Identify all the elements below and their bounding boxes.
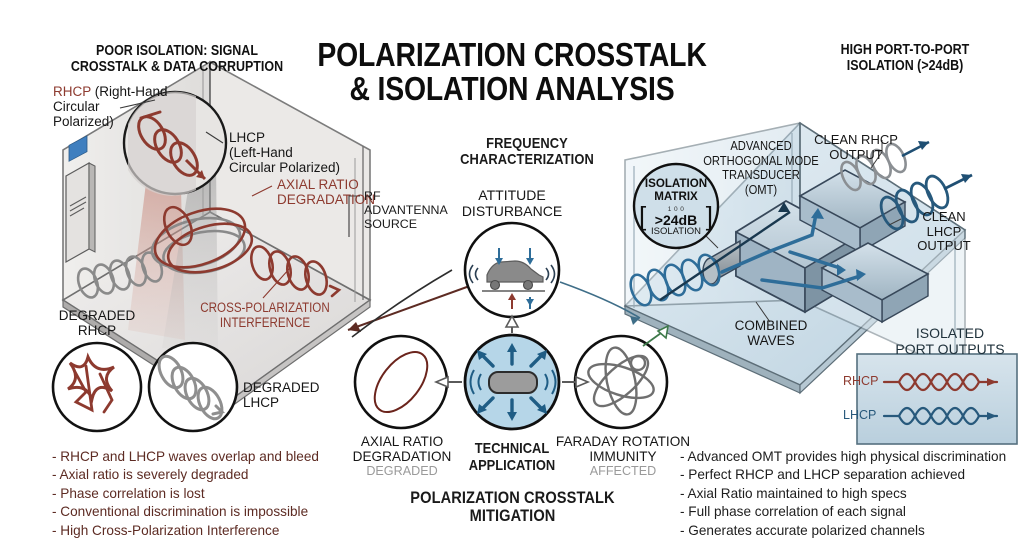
- freq-heading-l2: CHARACTERIZATION: [445, 152, 608, 168]
- right-heading-line1: HIGH PORT-TO-PORT: [815, 42, 996, 58]
- callout-lhcp-l3: Circular Polarized): [229, 160, 369, 175]
- clean-lhcp-l2: LHCP: [906, 225, 982, 240]
- faraday-status: AFFECTED: [549, 464, 697, 478]
- clean-lhcp-l3: OUTPUT: [906, 239, 982, 254]
- left-heading-line1: POOR ISOLATION: SIGNAL: [61, 43, 293, 59]
- degraded-lhcp-l1: DEGRADED: [243, 380, 353, 395]
- matrix-sub-label: ISOLATION: [641, 227, 711, 237]
- callout-rhcp: RHCP (Right-Hand Circular Polarized): [53, 84, 203, 129]
- axial-ratio-icon: [355, 336, 447, 428]
- faraday-l2: IMMUNITY: [549, 449, 697, 464]
- left-heading-line2: CROSSTALK & DATA CORRUPTION: [61, 59, 293, 75]
- callout-rhcp-rest3: Polarized): [53, 114, 203, 129]
- port-label-lhcp: LHCP: [843, 408, 876, 422]
- callout-lhcp-l1: LHCP: [229, 130, 369, 145]
- attitude-l1: ATTITUDE: [437, 188, 587, 204]
- omt-l3: TRANSDUCER: [697, 168, 826, 183]
- port-label-rhcp: RHCP: [843, 374, 878, 388]
- combined-l1: COMBINED: [715, 318, 827, 333]
- callout-degraded-rhcp: DEGRADED RHCP: [35, 308, 159, 338]
- clean-lhcp-l1: CLEAN: [906, 210, 982, 225]
- isolated-ports-l2: PORT OUTPUTS: [880, 342, 1020, 358]
- attitude-l2: DISTURBANCE: [437, 204, 587, 220]
- callout-rf-l3: SOURCE: [364, 217, 454, 231]
- isolation-matrix-content: ISOLATION MATRIX [ ] 1 0 0 >24dB ISOLATI…: [641, 178, 711, 237]
- axial-label-l2: DEGRADATION: [339, 449, 465, 464]
- frequency-characterization-heading: FREQUENCY CHARACTERIZATION: [445, 136, 608, 168]
- isolated-port-outputs-heading: ISOLATED PORT OUTPUTS: [880, 326, 1020, 357]
- degraded-rhcp-l2: RHCP: [35, 323, 159, 338]
- infographic-root: POLARIZATION CROSSTALK & ISOLATION ANALY…: [0, 0, 1024, 556]
- mitigation-l1: POLARIZATION CROSSTALK: [403, 489, 622, 507]
- isolated-port-panel: [857, 354, 1017, 444]
- right-panel-heading: HIGH PORT-TO-PORT ISOLATION (>24dB): [815, 42, 996, 74]
- mitigation-footer: POLARIZATION CROSSTALK MITIGATION: [403, 489, 622, 525]
- isolated-ports-l1: ISOLATED: [880, 326, 1020, 342]
- faraday-l1: FARADAY ROTATION: [549, 434, 697, 449]
- degraded-lhcp-l2: LHCP: [243, 395, 353, 410]
- left-bullet-list: - RHCP and LHCP waves overlap and bleed …: [52, 448, 362, 540]
- matrix-title-l1: ISOLATION: [641, 178, 711, 191]
- callout-cross-polarization: CROSS-POLARIZATION INTERFERENCE: [183, 300, 346, 330]
- callout-lhcp: LHCP (Left-Hand Circular Polarized): [229, 130, 369, 175]
- page-title-line2: & ISOLATION ANALYSIS: [306, 72, 719, 106]
- right-bullet-list: - Advanced OMT provides high physical di…: [680, 448, 1024, 540]
- technical-application-hub: [465, 335, 559, 429]
- omt-l4: (OMT): [697, 183, 826, 198]
- page-title: POLARIZATION CROSSTALK & ISOLATION ANALY…: [306, 38, 719, 105]
- callout-clean-rhcp: CLEAN RHCP OUTPUT: [796, 133, 916, 162]
- callout-rhcp-rest2: Circular: [53, 99, 203, 114]
- right-heading-line2: ISOLATION (>24dB): [815, 58, 996, 74]
- callout-lhcp-l2: (Left-Hand: [229, 145, 369, 160]
- page-title-line1: POLARIZATION CROSSTALK: [306, 38, 719, 72]
- freq-heading-l1: FREQUENCY: [445, 136, 608, 152]
- attitude-disturbance-icon: [465, 223, 559, 317]
- callout-clean-lhcp: CLEAN LHCP OUTPUT: [906, 210, 982, 254]
- callout-crosspol-l1: CROSS-POLARIZATION: [183, 300, 346, 315]
- left-panel-heading: POOR ISOLATION: SIGNAL CROSSTALK & DATA …: [61, 43, 293, 75]
- callout-degraded-lhcp: DEGRADED LHCP: [243, 380, 353, 410]
- axial-label-l1: AXIAL RATIO: [339, 434, 465, 449]
- matrix-title-l2: MATRIX: [641, 191, 711, 204]
- combined-l2: WAVES: [715, 333, 827, 348]
- degraded-rhcp-circle: [53, 343, 141, 431]
- axial-status: DEGRADED: [339, 464, 465, 478]
- faraday-label: FARADAY ROTATION IMMUNITY AFFECTED: [549, 434, 697, 479]
- attitude-disturbance-label: ATTITUDE DISTURBANCE: [437, 188, 587, 219]
- callout-crosspol-l2: INTERFERENCE: [183, 315, 346, 330]
- callout-rhcp-rest1: (Right-Hand: [91, 84, 168, 99]
- callout-combined-waves: COMBINED WAVES: [715, 318, 827, 348]
- axial-ratio-label: AXIAL RATIO DEGRADATION DEGRADED: [339, 434, 465, 479]
- matrix-main-value: >24dB: [641, 213, 711, 228]
- degraded-rhcp-l1: DEGRADED: [35, 308, 159, 323]
- clean-rhcp-l1: CLEAN RHCP: [796, 133, 916, 148]
- callout-rhcp-key: RHCP: [53, 84, 91, 99]
- mitigation-l2: MITIGATION: [403, 507, 622, 525]
- matrix-bracket-left: [: [639, 205, 646, 228]
- degraded-lhcp-circle: [149, 343, 237, 431]
- clean-rhcp-l2: OUTPUT: [796, 148, 916, 163]
- matrix-bracket-right: ]: [706, 205, 713, 228]
